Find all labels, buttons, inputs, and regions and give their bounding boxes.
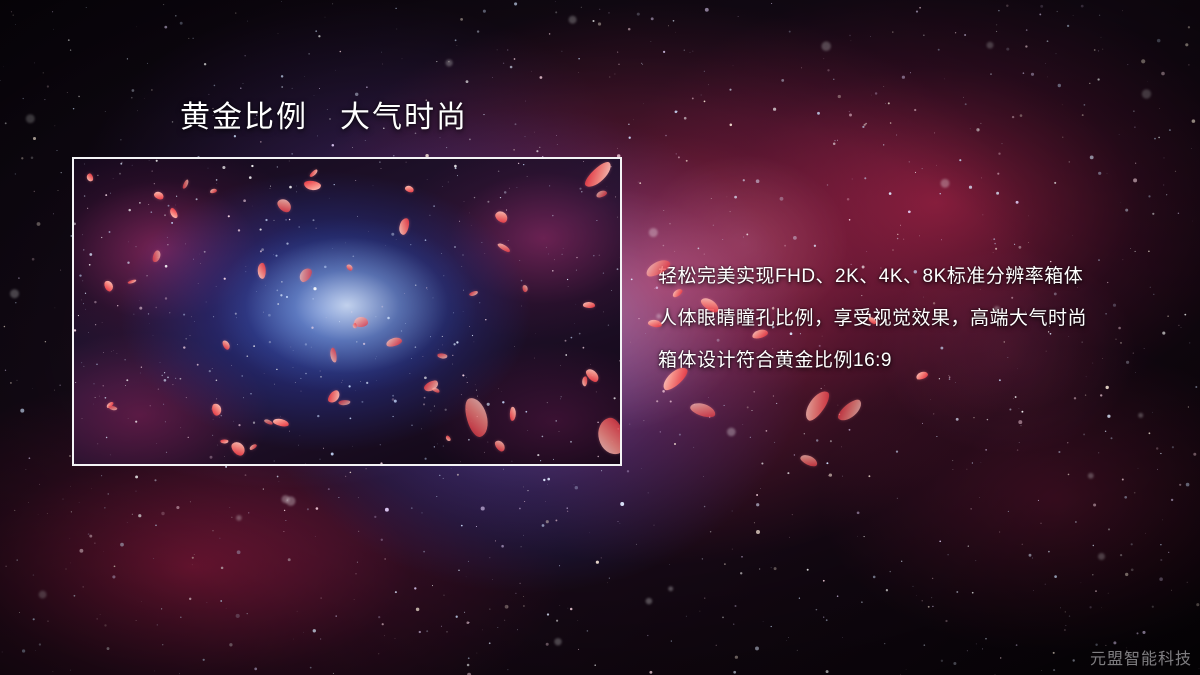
petal — [257, 263, 265, 279]
description-line-1: 轻松完美实现FHD、2K、4K、8K标准分辨率箱体 — [658, 256, 1178, 298]
image-panel — [72, 157, 622, 466]
description-line-2: 人体眼睛瞳孔比例，享受视觉效果，高端大气时尚 — [658, 298, 1178, 340]
petal — [583, 301, 595, 307]
presentation-slide: 黄金比例 大气时尚 轻松完美实现FHD、2K、4K、8K标准分辨率箱体 人体眼睛… — [0, 0, 1200, 675]
petal — [437, 353, 448, 359]
feature-description-block: 轻松完美实现FHD、2K、4K、8K标准分辨率箱体 人体眼睛瞳孔比例，享受视觉效… — [658, 256, 1178, 382]
brand-watermark: 元盟智能科技 — [1090, 645, 1192, 669]
petal — [581, 376, 587, 386]
panel-starfield — [74, 159, 620, 464]
page-title: 黄金比例 大气时尚 — [180, 103, 468, 133]
